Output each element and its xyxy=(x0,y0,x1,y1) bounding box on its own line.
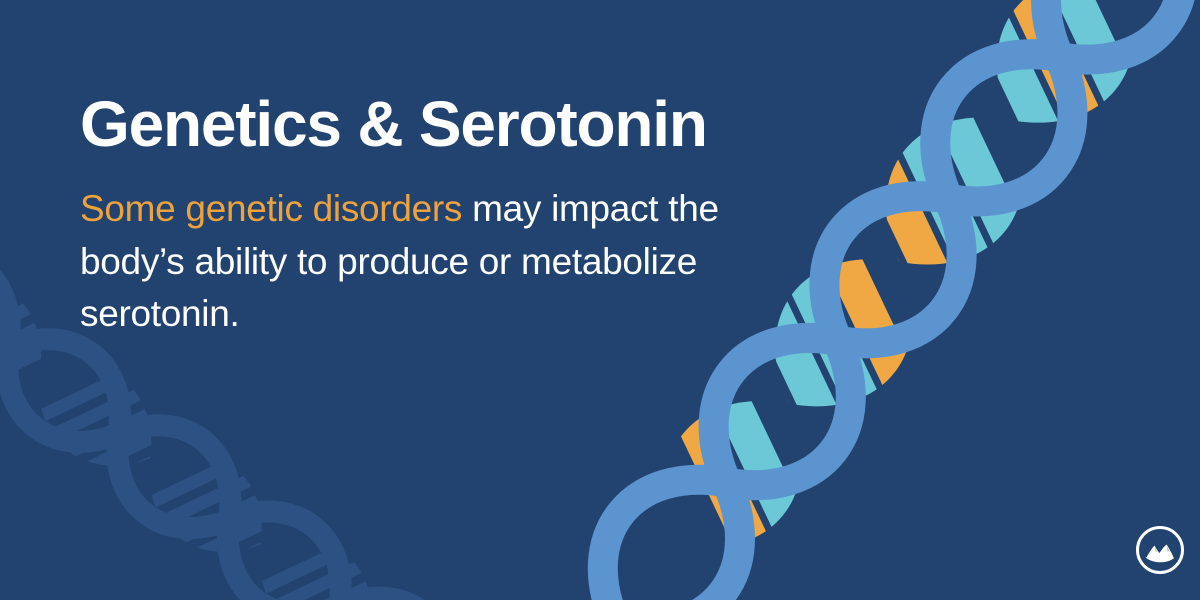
mountain-circle-logo[interactable] xyxy=(1134,524,1186,576)
page-title: Genetics & Serotonin xyxy=(80,92,840,157)
text-block: Genetics & Serotonin Some genetic disord… xyxy=(80,92,840,341)
slide-canvas: Genetics & Serotonin Some genetic disord… xyxy=(0,0,1200,600)
mountain-icon xyxy=(1146,545,1175,563)
page-subtitle: Some genetic disorders may impact the bo… xyxy=(80,183,810,341)
subtitle-accent-phrase: Some genetic disorders xyxy=(80,188,462,229)
